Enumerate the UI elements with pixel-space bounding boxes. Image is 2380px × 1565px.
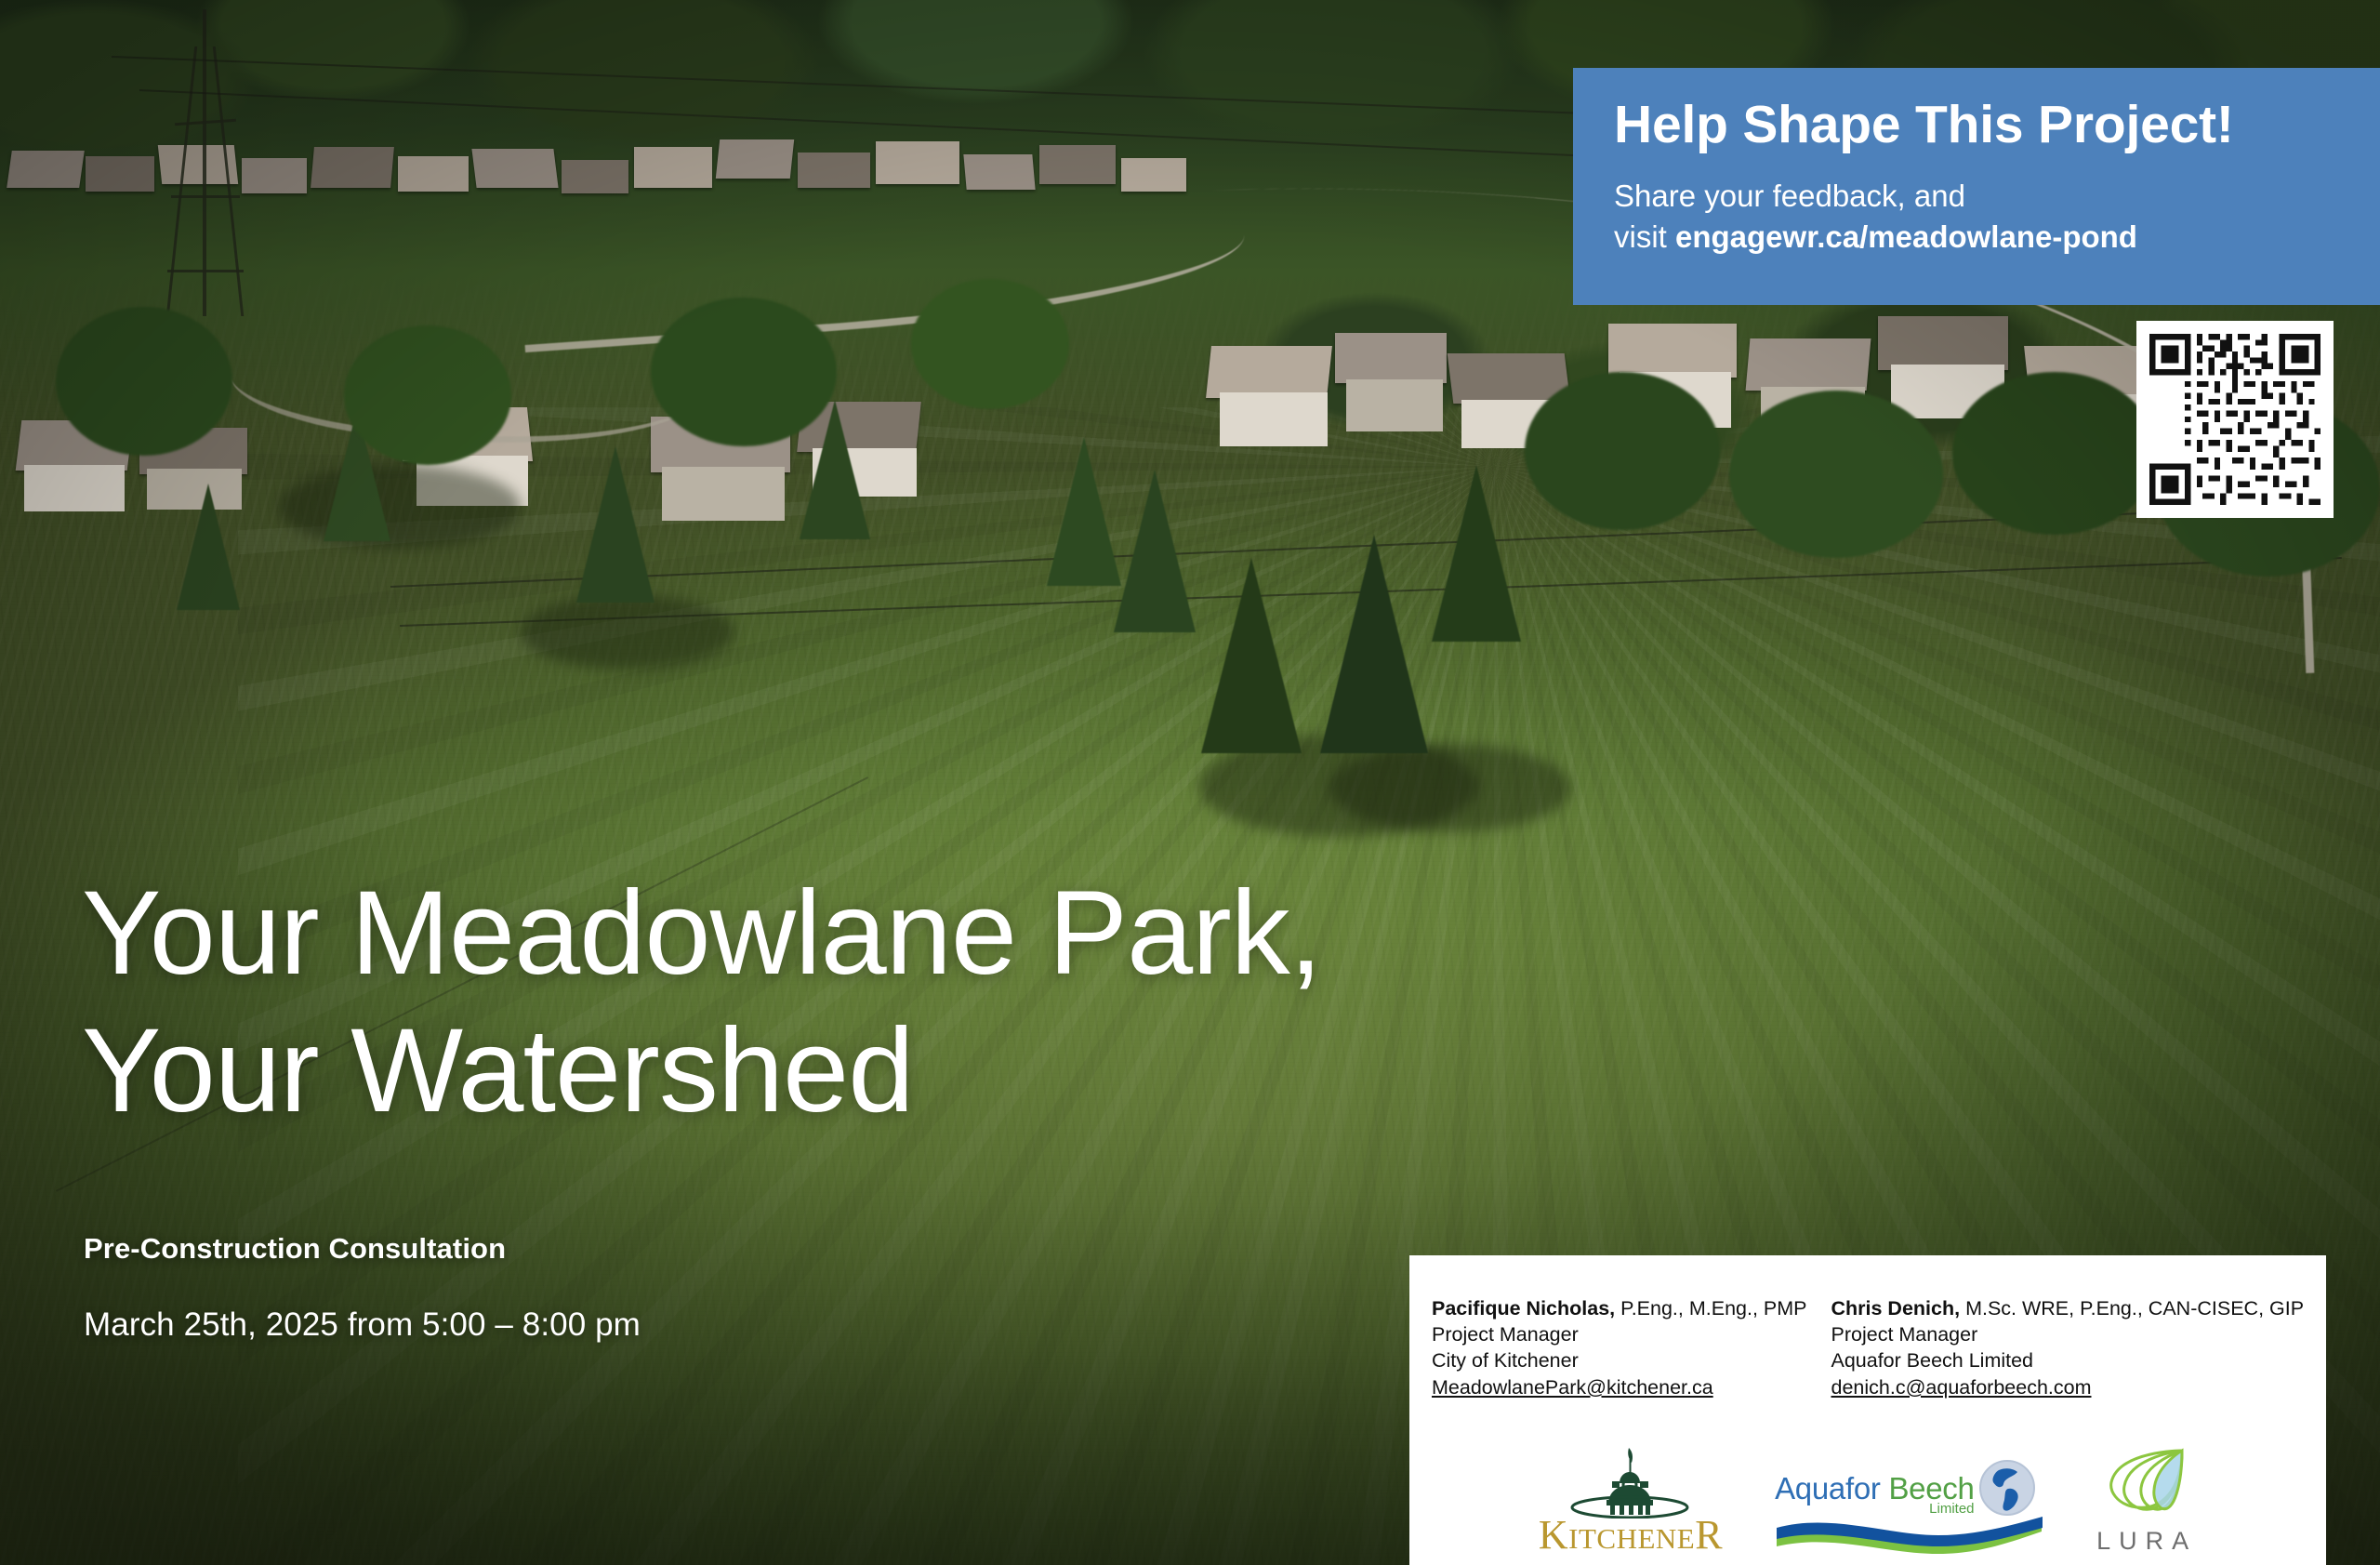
- contact-name: Pacifique Nicholas,: [1432, 1297, 1615, 1320]
- kitchener-wordmark: KITCHENER: [1539, 1515, 1723, 1556]
- contact-title: Project Manager: [1831, 1322, 2305, 1348]
- kitchener-wordmark-k: K: [1539, 1512, 1568, 1558]
- contact-block: Chris Denich, M.Sc. WRE, P.Eng., CAN-CIS…: [1831, 1296, 2305, 1401]
- contact-card: Pacifique Nicholas, P.Eng., M.Eng., PMP …: [1409, 1255, 2326, 1565]
- qr-code[interactable]: [2149, 334, 2320, 505]
- page-title-line-2: Your Watershed: [82, 1002, 1569, 1140]
- contact-email[interactable]: MeadowlanePark@kitchener.ca: [1432, 1375, 1713, 1401]
- cta-subtext-line1: Share your feedback, and: [1614, 176, 2339, 217]
- contact-list: Pacifique Nicholas, P.Eng., M.Eng., PMP …: [1409, 1255, 2326, 1401]
- cta-url[interactable]: engagewr.ca/meadowlane-pond: [1675, 219, 2137, 254]
- lura-logo: LURA: [2096, 1445, 2197, 1556]
- contact-title: Project Manager: [1432, 1322, 1807, 1348]
- cta-subtext: Share your feedback, and visit engagewr.…: [1614, 176, 2339, 258]
- aquafor-beech-logo: Aquafor Beech Limited: [1775, 1459, 2044, 1556]
- contact-credentials: M.Sc. WRE, P.Eng., CAN-CISEC, GIP: [1960, 1297, 2304, 1320]
- contact-email[interactable]: denich.c@aquaforbeech.com: [1831, 1375, 2092, 1401]
- poster: Help Shape This Project! Share your feed…: [0, 0, 2380, 1565]
- page-title-line-1: Your Meadowlane Park,: [82, 865, 1569, 1002]
- contact-name: Chris Denich,: [1831, 1297, 1961, 1320]
- contact-organization: Aquafor Beech Limited: [1831, 1348, 2305, 1374]
- globe-icon: [1978, 1459, 2036, 1517]
- contact-block: Pacifique Nicholas, P.Eng., M.Eng., PMP …: [1432, 1296, 1807, 1401]
- qr-code-container[interactable]: [2136, 321, 2334, 518]
- kitchener-cityhall-icon: [1547, 1446, 1714, 1519]
- cta-banner: Help Shape This Project! Share your feed…: [1573, 68, 2380, 305]
- contact-name-line: Pacifique Nicholas, P.Eng., M.Eng., PMP: [1432, 1296, 1807, 1322]
- aquafor-beech-wordmark: Aquafor Beech: [1775, 1473, 1974, 1504]
- aquafor-swoosh-icon: [1775, 1515, 2044, 1556]
- kitchener-wordmark-mid: ITCHENE: [1568, 1522, 1695, 1555]
- page-title: Your Meadowlane Park, Your Watershed: [82, 865, 1569, 1141]
- event-kicker: Pre-Construction Consultation: [84, 1232, 506, 1266]
- event-date: March 25th, 2025 from 5:00 – 8:00 pm: [84, 1306, 641, 1344]
- cta-visit-label: visit: [1614, 219, 1675, 254]
- cta-heading: Help Shape This Project!: [1614, 98, 2339, 153]
- contact-organization: City of Kitchener: [1432, 1348, 1807, 1374]
- contact-name-line: Chris Denich, M.Sc. WRE, P.Eng., CAN-CIS…: [1831, 1296, 2305, 1322]
- contact-credentials: P.Eng., M.Eng., PMP: [1615, 1297, 1806, 1320]
- logo-row: KITCHENER Aquafor Beech Limited: [1409, 1445, 2326, 1559]
- kitchener-wordmark-r: R: [1695, 1512, 1723, 1558]
- lura-wordmark: LURA: [2096, 1527, 2197, 1556]
- cta-subtext-line2: visit engagewr.ca/meadowlane-pond: [1614, 217, 2339, 258]
- kitchener-logo: KITCHENER: [1539, 1446, 1723, 1556]
- aquafor-word: Aquafor: [1775, 1471, 1888, 1505]
- lura-leaves-icon: [2102, 1445, 2191, 1523]
